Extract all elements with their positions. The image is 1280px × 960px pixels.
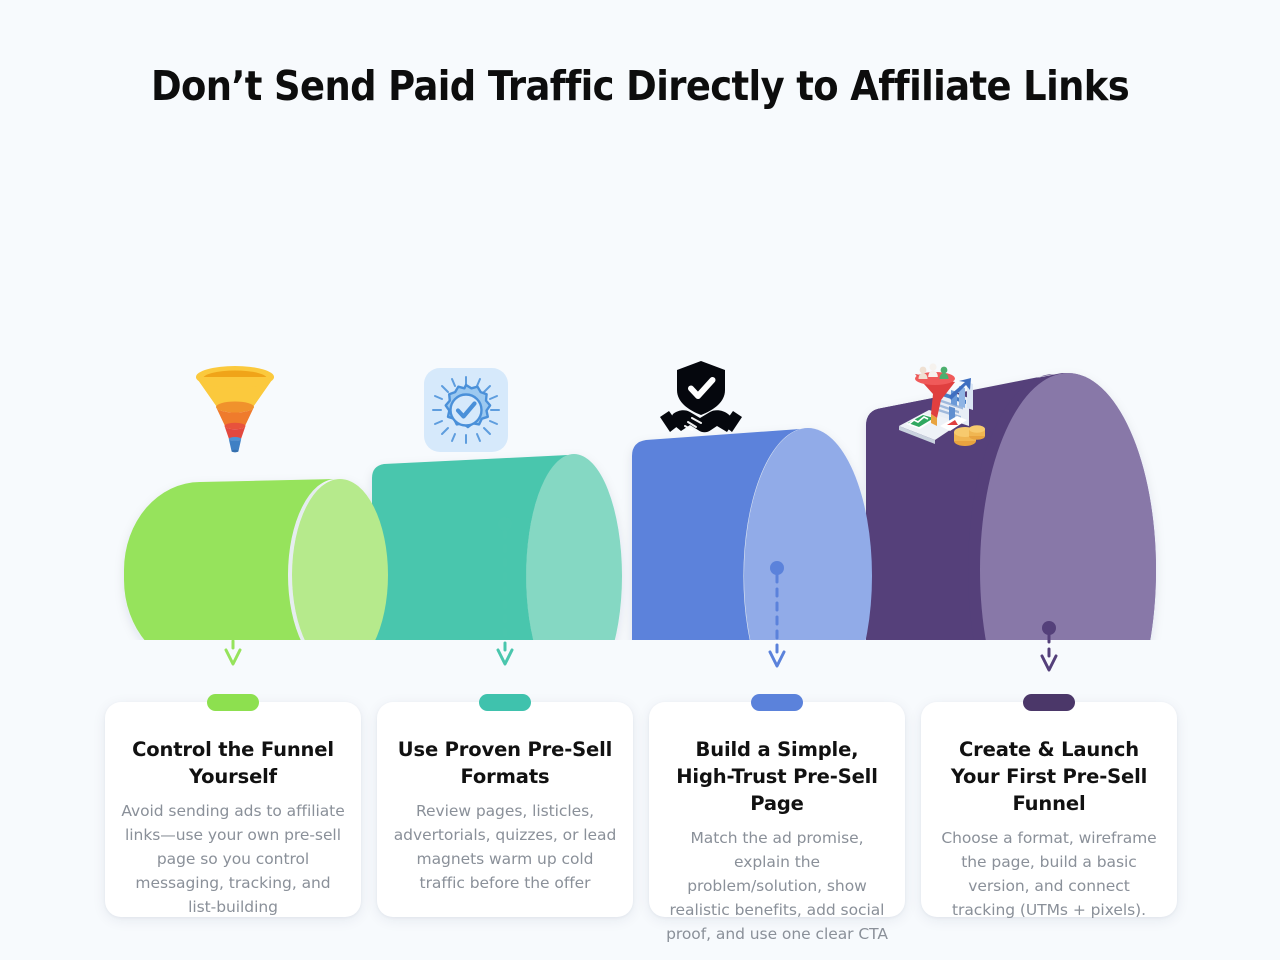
step-card-2[interactable]: Use Proven Pre-Sell Formats Review pages… xyxy=(377,702,633,917)
connector-4 xyxy=(1022,620,1076,682)
trust-handshake-icon xyxy=(655,359,747,443)
card-description: Match the ad promise, explain the proble… xyxy=(665,826,889,946)
card-title: Control the Funnel Yourself xyxy=(121,736,345,790)
connector-1 xyxy=(206,486,260,676)
verified-badge-icon xyxy=(424,368,508,452)
card-description: Review pages, listicles, advertorials, q… xyxy=(393,799,617,895)
card-title: Create & Launch Your First Pre-Sell Funn… xyxy=(937,736,1161,817)
card-description: Avoid sending ads to affiliate links—use… xyxy=(121,799,345,919)
connector-3 xyxy=(750,560,804,678)
card-accent-pill xyxy=(207,694,259,711)
step-cards: Control the Funnel Yourself Avoid sendin… xyxy=(0,694,1280,960)
card-accent-pill xyxy=(1023,694,1075,711)
step-card-4[interactable]: Create & Launch Your First Pre-Sell Funn… xyxy=(921,702,1177,917)
card-title: Use Proven Pre-Sell Formats xyxy=(393,736,617,790)
step-card-3[interactable]: Build a Simple, High-Trust Pre-Sell Page… xyxy=(649,702,905,917)
card-accent-pill xyxy=(479,694,531,711)
step-card-1[interactable]: Control the Funnel Yourself Avoid sendin… xyxy=(105,702,361,917)
page-title: Don’t Send Paid Traffic Directly to Affi… xyxy=(0,62,1280,110)
funnel-icon xyxy=(191,363,279,453)
card-title: Build a Simple, High-Trust Pre-Sell Page xyxy=(665,736,889,817)
launch-funnel-icon xyxy=(893,348,993,450)
connector-2 xyxy=(478,516,532,676)
card-accent-pill xyxy=(751,694,803,711)
card-description: Choose a format, wireframe the page, bui… xyxy=(937,826,1161,922)
